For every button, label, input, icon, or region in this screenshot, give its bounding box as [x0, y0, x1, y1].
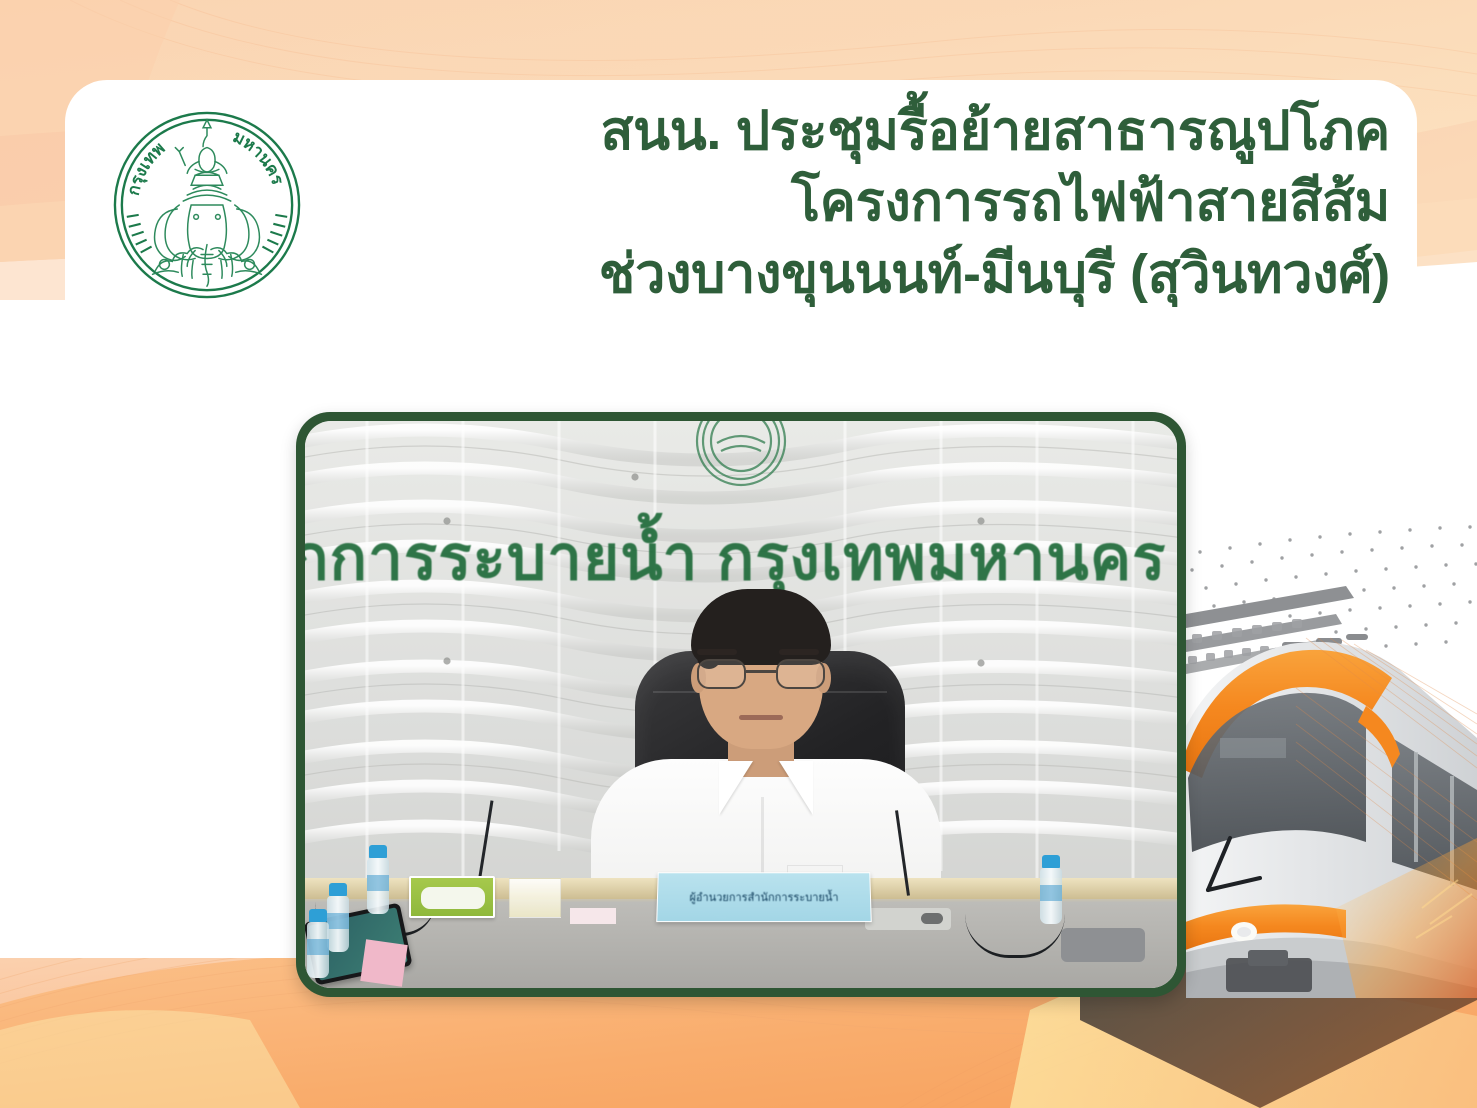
lens-right: [776, 659, 825, 689]
nameplate: ผู้อำนวยการสำนักการระบายน้ำ: [656, 872, 872, 922]
meeting-photo: กการระบายน้ำ กรุงเทพมหานคร: [305, 421, 1177, 988]
water-bottle: [367, 845, 389, 914]
meeting-photo-card: กการระบายน้ำ กรุงเทพมหานคร: [296, 412, 1186, 997]
bottle-cap: [329, 883, 347, 896]
bottle-label: [367, 875, 389, 891]
mouth: [739, 715, 783, 720]
snack-container: [509, 878, 561, 918]
collar-left: [719, 761, 753, 815]
green-desk-sign: [409, 876, 495, 918]
orange-line-train-graphic: [1186, 438, 1477, 998]
bma-seal-icon: กรุงเทพ มหานคร: [108, 106, 306, 304]
water-bottle: [1040, 855, 1062, 924]
nameplate-text: ผู้อำนวยการสำนักการระบายน้ำ: [689, 888, 838, 906]
glasses-bridge: [746, 670, 776, 673]
eyebrow-right: [779, 649, 819, 655]
water-bottle: [307, 909, 329, 978]
bottle-label: [327, 913, 349, 929]
desk-device-right: [1061, 928, 1145, 962]
eyebrow-left: [697, 649, 737, 655]
collar-right: [779, 761, 813, 815]
bottle-label: [1040, 885, 1062, 901]
pink-folder: [360, 939, 407, 986]
microphone-base: [865, 908, 951, 930]
bottle-cap: [1042, 855, 1060, 868]
bottle-cap: [309, 909, 327, 922]
backdrop-emblem-icon: [691, 421, 791, 455]
lens-left: [697, 659, 746, 689]
water-bottle: [327, 883, 349, 952]
title-line-1: สนน. ประชุมรื้อย้ายสาธารณูปโภค: [380, 96, 1390, 167]
page-title: สนน. ประชุมรื้อย้ายสาธารณูปโภค โครงการรถ…: [380, 96, 1390, 310]
paper-stack: [570, 908, 616, 924]
title-line-2: โครงการรถไฟฟ้าสายสีส้ม: [380, 167, 1390, 238]
bottle-cap: [369, 845, 387, 858]
eyeglasses-icon: [695, 659, 827, 689]
bottle-label: [307, 939, 329, 955]
title-line-3: ช่วงบางขุนนนท์-มีนบุรี (สุวินทวงศ์): [380, 239, 1390, 310]
